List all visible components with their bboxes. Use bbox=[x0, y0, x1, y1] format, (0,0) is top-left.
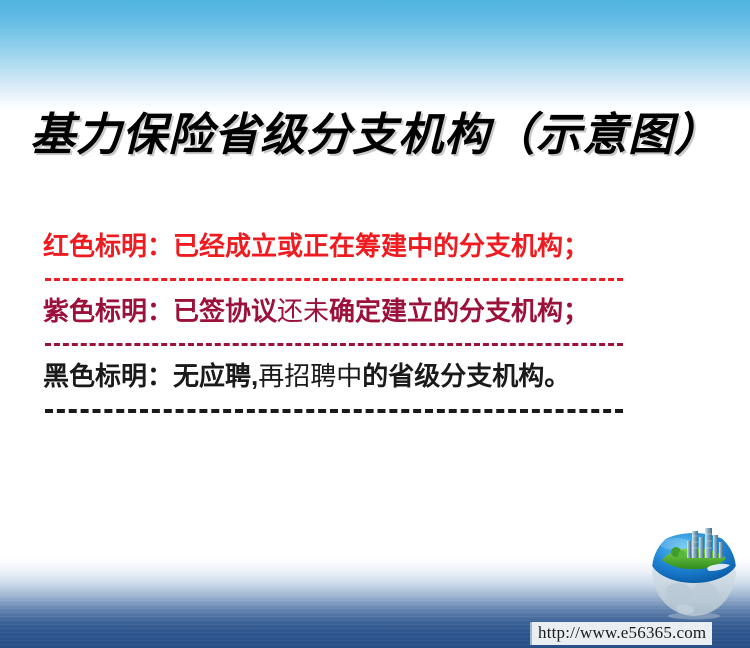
legend-description-black-light: 再招聘中 bbox=[258, 361, 362, 391]
legend-description-purple-light: 还未 bbox=[277, 296, 329, 326]
legend-row-red: 红色标明：已经成立或正在筹建中的分支机构； bbox=[43, 233, 643, 259]
globe-city-logo-icon bbox=[646, 524, 742, 620]
legend-description-black-b: 的省级分支机构。 bbox=[362, 361, 570, 391]
legend-label-black: 黑色标明： bbox=[43, 361, 173, 391]
page-title: 基力保险省级分支机构（示意图） bbox=[0, 98, 750, 163]
legend-description-red: 已经成立或正在筹建中的分支机构； bbox=[173, 231, 589, 261]
slide-canvas: 基力保险省级分支机构（示意图） 红色标明：已经成立或正在筹建中的分支机构； 紫色… bbox=[0, 0, 750, 648]
sky-gradient-background bbox=[0, 0, 750, 110]
legend-description-purple-b: 确定建立的分支机构； bbox=[329, 296, 589, 326]
legend-row-black: 黑色标明：无应聘,再招聘中的省级分支机构。 bbox=[43, 363, 643, 389]
legend-block: 红色标明：已经成立或正在筹建中的分支机构； 紫色标明：已签协议还未确定建立的分支… bbox=[43, 233, 643, 413]
watermark-url: http://www.e56365.com bbox=[530, 622, 712, 645]
legend-description-black-a: 无应聘, bbox=[173, 361, 258, 391]
legend-label-purple: 紫色标明： bbox=[43, 296, 173, 326]
legend-separator-black bbox=[45, 409, 623, 413]
legend-row-purple: 紫色标明：已签协议还未确定建立的分支机构； bbox=[43, 298, 643, 324]
legend-separator-purple bbox=[45, 343, 623, 346]
legend-separator-red bbox=[45, 278, 623, 281]
legend-description-purple-a: 已签协议 bbox=[173, 296, 277, 326]
legend-label-red: 红色标明： bbox=[43, 231, 173, 261]
